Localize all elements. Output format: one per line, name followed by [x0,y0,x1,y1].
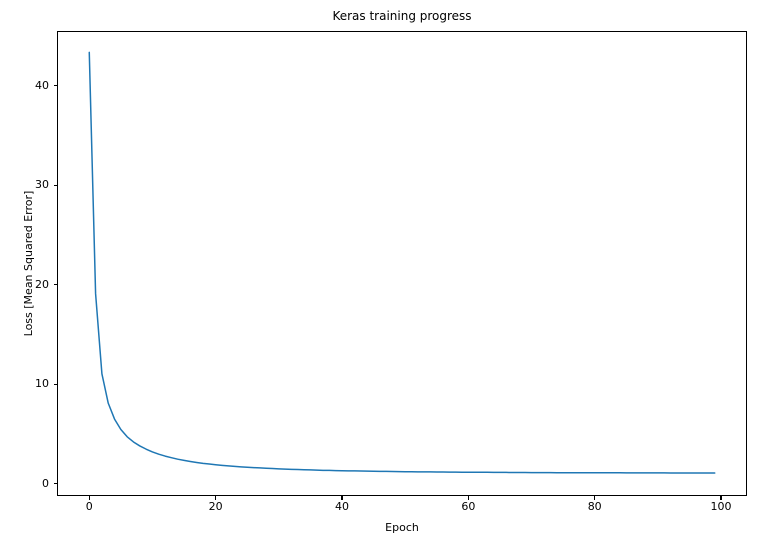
y-tick-mark [54,384,58,385]
matplotlib-figure: Keras training progress Epoch Loss [Mean… [0,0,764,547]
x-tick-label: 40 [335,501,349,513]
loss-curve-svg [58,32,746,495]
x-tick-mark [468,496,469,500]
y-tick-mark [54,185,58,186]
x-tick-mark [594,496,595,500]
plot-area [57,31,747,496]
y-tick-label: 0 [20,478,49,490]
x-tick-label: 20 [209,501,223,513]
x-tick-label: 60 [461,501,475,513]
x-tick-label: 0 [86,501,93,513]
y-tick-mark [54,483,58,484]
x-tick-label: 80 [588,501,602,513]
y-tick-mark [54,284,58,285]
y-tick-mark [54,85,58,86]
x-tick-mark [720,496,721,500]
chart-title: Keras training progress [57,9,747,23]
y-axis-label: Loss [Mean Squared Error] [22,31,38,496]
y-tick-label: 20 [20,279,49,291]
x-tick-mark [89,496,90,500]
x-tick-mark [215,496,216,500]
y-tick-label: 10 [20,378,49,390]
y-tick-label: 40 [20,80,49,92]
y-tick-label: 30 [20,179,49,191]
x-axis-label: Epoch [57,521,747,534]
x-tick-mark [341,496,342,500]
loss-line [89,52,714,473]
x-tick-label: 100 [711,501,732,513]
